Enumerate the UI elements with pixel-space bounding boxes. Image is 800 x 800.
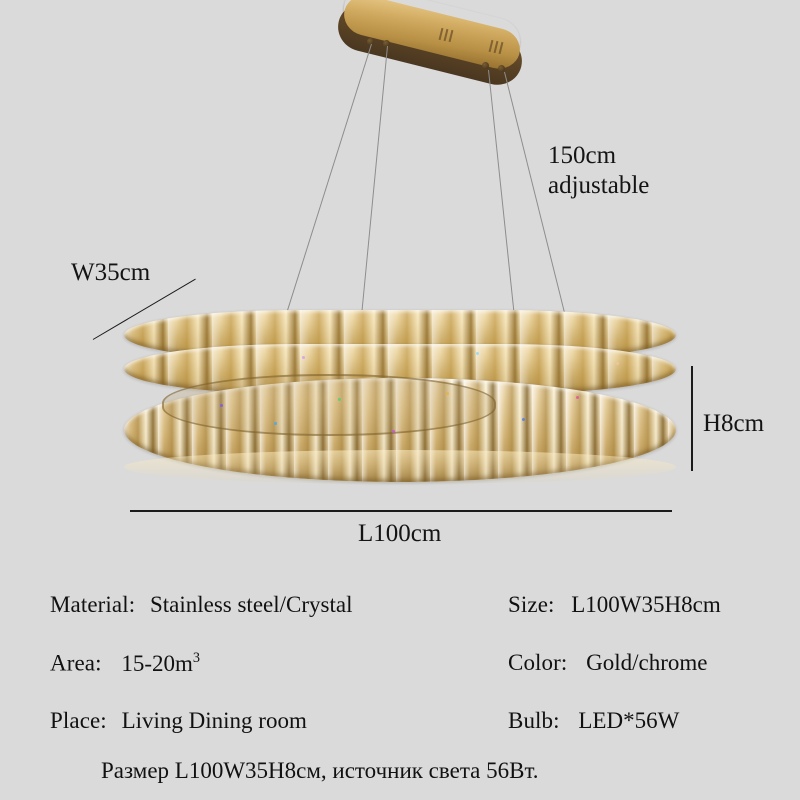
spec-key-place: Place: (50, 708, 107, 733)
inner-oval-opening (162, 374, 496, 436)
bottom-rim-glow (124, 450, 676, 484)
spec-value-area: 15-20m (121, 651, 193, 676)
crystal-sparkle (522, 418, 525, 421)
spec-key-size: Size: (508, 592, 555, 617)
dimension-label-width: W35cm (71, 258, 150, 288)
spec-row-place: Place: Living Dining room (50, 708, 307, 734)
crystal-sparkle (392, 430, 395, 433)
suspension-cable (285, 44, 372, 316)
crystal-sparkle (616, 362, 619, 365)
spec-key-material: Material: (50, 592, 135, 617)
crystal-sparkle (338, 398, 341, 401)
canopy-cable-anchor (482, 62, 489, 69)
dimension-label-drop: 150cm adjustable (548, 141, 649, 200)
russian-spec-note: Размер L100W35H8см, источник света 56Вт. (101, 758, 539, 784)
crystal-sparkle (576, 396, 579, 399)
dimension-label-length: L100cm (358, 519, 441, 549)
spec-key-color: Color: (508, 650, 567, 675)
spec-value-area-exponent: 3 (193, 650, 200, 666)
spec-value-color: Gold/chrome (586, 650, 707, 675)
spec-value-size: L100W35H8cm (571, 592, 720, 617)
crystal-sparkle (476, 352, 479, 355)
crystal-sparkle (302, 356, 305, 359)
dimension-label-height: H8cm (703, 409, 764, 439)
length-measure-line (130, 510, 672, 512)
height-measure-line (691, 366, 693, 471)
spec-value-place: Living Dining room (122, 708, 307, 733)
spec-row-color: Color: Gold/chrome (508, 650, 708, 676)
crystal-chandelier-body (124, 300, 676, 500)
spec-row-size: Size: L100W35H8cm (508, 592, 721, 618)
crystal-sparkle (446, 392, 449, 395)
spec-row-material: Material: Stainless steel/Crystal (50, 592, 352, 618)
crystal-sparkle (274, 422, 277, 425)
spec-value-bulb: LED*56W (578, 708, 679, 733)
spec-row-area: Area: 15-20m3 (50, 650, 200, 677)
product-image-canvas: 150cm adjustable W35cm H8cm L100cm Mater… (0, 0, 800, 800)
spec-key-area: Area: (50, 651, 102, 676)
canopy-top-face (340, 0, 524, 73)
spec-key-bulb: Bulb: (508, 708, 560, 733)
spec-value-material: Stainless steel/Crystal (150, 592, 353, 617)
spec-row-bulb: Bulb: LED*56W (508, 708, 679, 734)
crystal-sparkle (220, 404, 223, 407)
